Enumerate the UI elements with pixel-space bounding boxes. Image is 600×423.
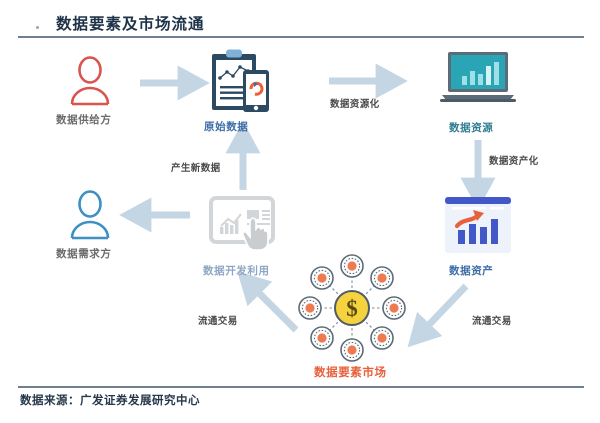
header-divider — [18, 36, 584, 38]
browser-chart-icon — [444, 196, 512, 261]
source-note: 数据来源：广发证券发展研究中心 — [20, 392, 200, 408]
clipboard-phone-icon — [210, 48, 272, 119]
market-satellite-node — [371, 267, 393, 289]
node-label-data-asset: 数据资产 — [449, 263, 493, 278]
touch-screen-icon — [209, 196, 275, 257]
page-title: 数据要素及市场流通 — [56, 12, 205, 34]
node-label-data-demander: 数据需求方 — [56, 246, 112, 261]
node-label-data-resource: 数据资源 — [449, 120, 493, 135]
flow-label-resourcification: 数据资源化 — [330, 96, 380, 110]
network-dollar-icon: $ — [296, 252, 408, 369]
flow-label-trade-right: 流通交易 — [472, 313, 512, 327]
node-label-data-supplier: 数据供给方 — [56, 112, 112, 127]
svg-text:$: $ — [346, 296, 358, 321]
footer-divider — [18, 386, 584, 388]
market-satellite-node — [371, 327, 393, 349]
market-satellite-node — [341, 339, 363, 361]
flow-label-assetization: 数据资产化 — [489, 153, 539, 167]
market-satellite-node — [311, 267, 333, 289]
node-label-raw-data: 原始数据 — [204, 119, 248, 134]
flow-label-new-data: 产生新数据 — [171, 160, 221, 174]
person-icon — [68, 56, 112, 111]
arrow-asset-to-market — [424, 286, 466, 330]
figure-canvas: 数据要素及市场流通 — [0, 0, 600, 423]
flow-label-trade-left: 流通交易 — [198, 313, 238, 327]
market-satellite-node — [299, 297, 321, 319]
market-satellite-node — [383, 297, 405, 319]
node-label-data-dev-use: 数据开发利用 — [203, 263, 270, 278]
person-icon — [68, 190, 112, 245]
title-bullet-icon — [36, 26, 39, 29]
arrow-market-to-dev — [254, 288, 296, 330]
laptop-chart-icon — [440, 50, 516, 111]
market-satellite-node — [341, 255, 363, 277]
node-label-data-market: 数据要素市场 — [314, 364, 387, 380]
market-satellite-node — [311, 327, 333, 349]
